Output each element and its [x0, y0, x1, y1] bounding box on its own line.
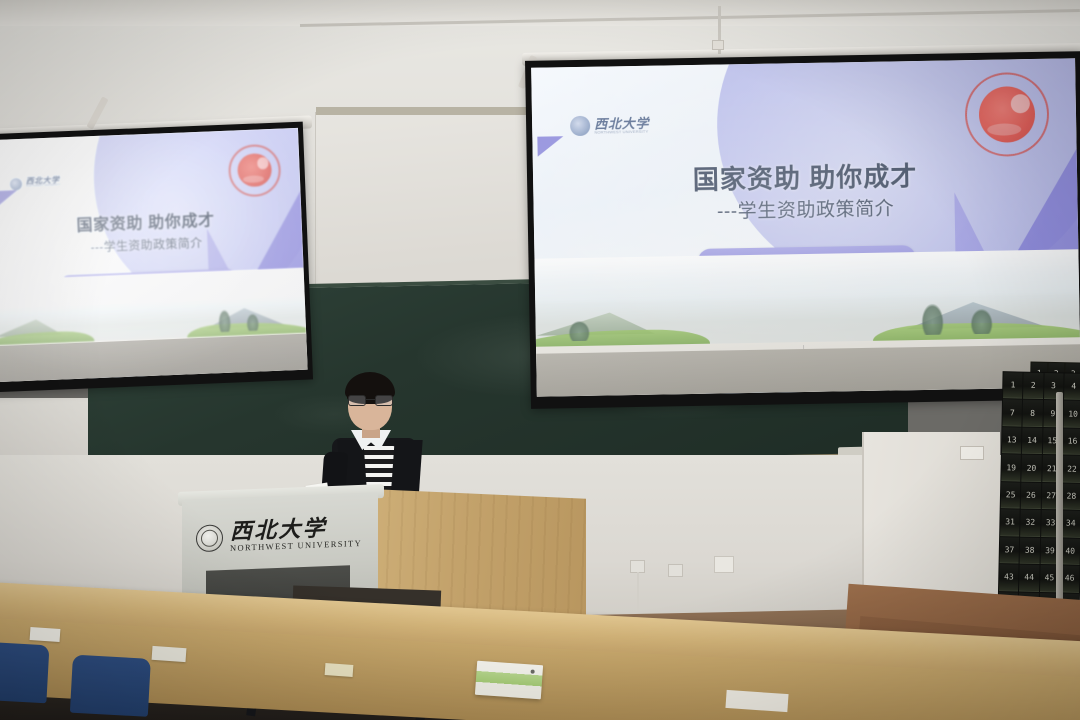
- seat-number-cell: 4: [1064, 373, 1080, 400]
- slide-triangle-left: [538, 136, 564, 156]
- booklet-dot: [531, 669, 535, 673]
- slide-university-logo: 西北大学 NORTHWEST UNIVERSITY: [570, 115, 649, 136]
- seat-number-cell: 38: [1020, 537, 1040, 564]
- rod-clip: [712, 40, 724, 50]
- seat-number-cell: 14: [1022, 427, 1042, 454]
- desk-paper: [30, 627, 61, 642]
- logo-name-en: NORTHWEST UNIVERSITY: [594, 130, 649, 135]
- audience-chair[interactable]: [0, 641, 49, 703]
- slide-triangle-left: [0, 190, 18, 211]
- slide-university-logo: 西北大学 NORTHWEST UNIVERSITY: [10, 176, 61, 190]
- seat-number-cell: 2: [1023, 373, 1043, 400]
- desk-booklet: [475, 661, 543, 700]
- door-sign: [960, 446, 984, 460]
- desk-paper: [325, 663, 354, 677]
- photo-tree: [246, 314, 259, 332]
- seat-number-cell: 40: [1060, 538, 1080, 565]
- photo-tree: [218, 310, 231, 333]
- logo-mark-icon: [570, 116, 590, 136]
- right-screen-surface: 西北大学 NORTHWEST UNIVERSITY 国家资助 助你成才 ---学…: [531, 58, 1080, 396]
- right-screen-deadband: [536, 344, 1080, 396]
- seat-number-cell: 26: [1021, 482, 1041, 509]
- university-emblem-icon: [196, 524, 223, 552]
- seat-number-cell: 43: [999, 564, 1019, 591]
- right-projection-screen[interactable]: 西北大学 NORTHWEST UNIVERSITY 国家资助 助你成才 ---学…: [525, 51, 1080, 409]
- panel-top-strip: [316, 107, 542, 115]
- left-screen-surface: 西北大学 NORTHWEST UNIVERSITY 国家资助 助你成才 ---学…: [0, 128, 308, 382]
- photo-tree: [568, 321, 590, 341]
- wall-outlet[interactable]: [668, 564, 683, 577]
- logo-mark-icon: [10, 178, 22, 190]
- seat-number-board: 1234789101314151619202122252627283132333…: [997, 371, 1080, 621]
- seat-number-cell: 28: [1061, 483, 1080, 510]
- seat-number-cell: 16: [1063, 428, 1080, 455]
- glasses-bridge: [366, 399, 375, 400]
- seat-number-cell: 34: [1061, 511, 1080, 538]
- seat-number-cell: 13: [1002, 427, 1022, 454]
- seat-number-cell: 8: [1023, 400, 1043, 427]
- wall-panel-between-screens: [315, 112, 543, 302]
- seat-number-cell: 22: [1062, 456, 1080, 483]
- seat-number-cell: 25: [1001, 482, 1021, 509]
- lecture-hall-scene: 西北大学 NORTHWEST UNIVERSITY 国家资助 助你成才 ---学…: [0, 0, 1080, 720]
- photo-tree: [922, 304, 944, 335]
- photo-tree: [971, 309, 993, 334]
- seat-number-cell: 44: [1019, 565, 1039, 592]
- seat-number-cell: 19: [1001, 454, 1021, 481]
- glasses-lens-right: [375, 395, 393, 406]
- wall-notice-plate: [714, 556, 734, 573]
- seat-number-cell: 31: [1000, 509, 1020, 536]
- seat-number-cell: 10: [1063, 401, 1080, 428]
- desk-paper: [152, 646, 187, 662]
- left-projection-screen[interactable]: 西北大学 NORTHWEST UNIVERSITY 国家资助 助你成才 ---学…: [0, 122, 313, 393]
- seat-number-cell: 1: [1003, 372, 1023, 399]
- seat-number-cell: 7: [1002, 400, 1022, 427]
- wall-conduit: [637, 572, 639, 620]
- podium-branding: 西北大学 NORTHWEST UNIVERSITY: [196, 509, 368, 562]
- logo-name-en: NORTHWEST UNIVERSITY: [26, 185, 61, 189]
- wall-rail: [1056, 392, 1063, 632]
- glasses-icon: [348, 395, 393, 406]
- seat-number-cell: 20: [1022, 455, 1042, 482]
- glasses-lens-left: [348, 395, 366, 406]
- seat-number-cell: 37: [1000, 537, 1020, 564]
- seat-number-cell: 32: [1020, 510, 1040, 537]
- audience-chair[interactable]: [70, 655, 151, 717]
